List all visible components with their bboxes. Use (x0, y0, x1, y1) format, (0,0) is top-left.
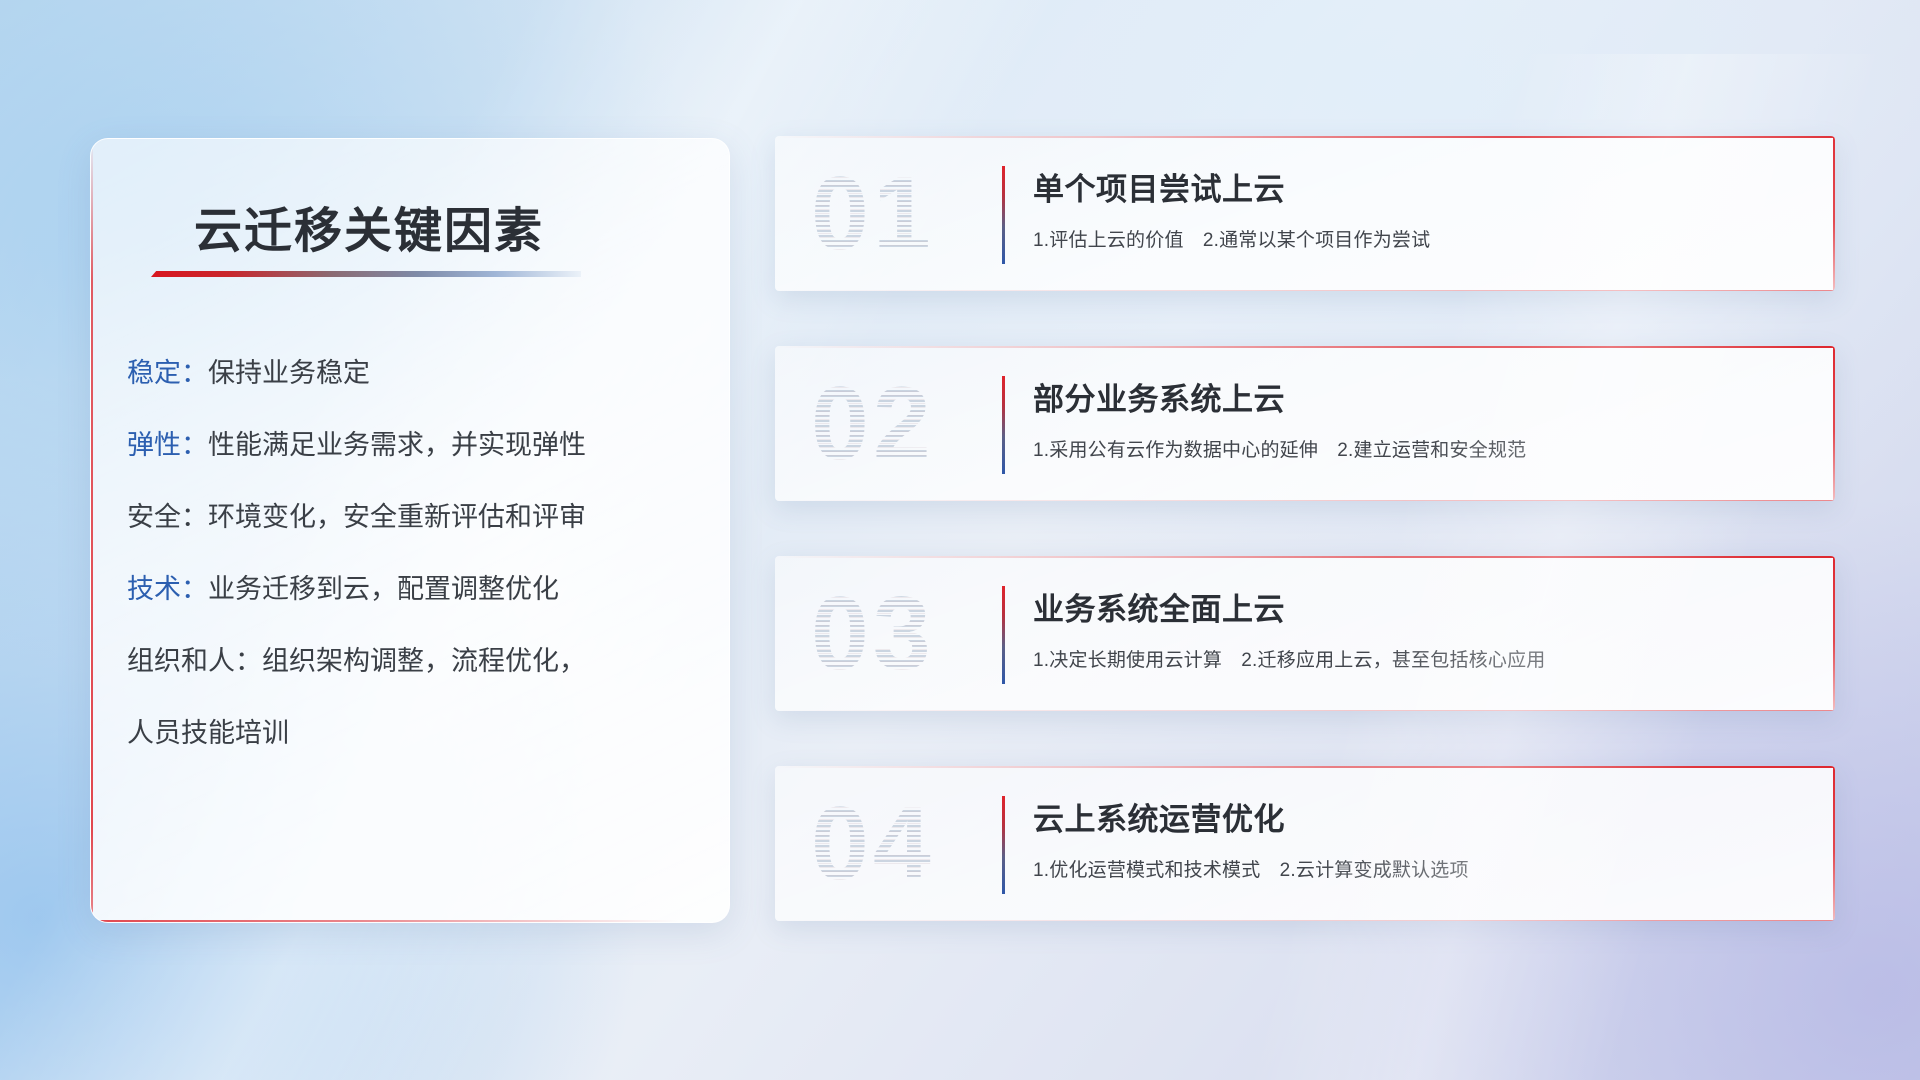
stage-number-ghost: 03 (811, 570, 986, 698)
card-right-accent-line (1833, 136, 1835, 291)
list-item-label: 技术： (127, 574, 208, 604)
stage-card[interactable]: 02 02 部分业务系统上云 1.采用公有云作为数据中心的延伸 2.建立运营和安… (775, 346, 1835, 501)
card-accent-bar (1002, 166, 1005, 264)
card-description: 1.采用公有云作为数据中心的延伸 2.建立运营和安全规范 (1033, 435, 1807, 462)
card-bottom-accent-line (775, 290, 1835, 291)
card-accent-bar (1002, 376, 1005, 474)
list-item-label: 弹性： (127, 430, 208, 460)
list-item: 技术：业务迁移到云，配置调整优化 (127, 553, 705, 625)
card-right-accent-line (1833, 346, 1835, 501)
list-item-text: 环境变化，安全重新评估和评审 (208, 502, 586, 532)
stage-card[interactable]: 01 01 单个项目尝试上云 1.评估上云的价值 2.通常以某个项目作为尝试 (775, 136, 1835, 291)
card-right-accent-line (1833, 766, 1835, 921)
card-title: 部分业务系统上云 (1033, 374, 1807, 419)
card-body: 部分业务系统上云 1.采用公有云作为数据中心的延伸 2.建立运营和安全规范 (1033, 374, 1807, 462)
title-underline-gradient (151, 271, 581, 277)
list-item-text: 组织架构调整，流程优化， (262, 646, 586, 676)
card-description: 1.优化运营模式和技术模式 2.云计算变成默认选项 (1033, 855, 1807, 882)
list-item-text: 业务迁移到云，配置调整优化 (208, 574, 559, 604)
card-right-accent-line (1833, 556, 1835, 711)
list-item: 弹性：性能满足业务需求，并实现弹性 (127, 409, 705, 481)
key-factors-list: 稳定：保持业务稳定 弹性：性能满足业务需求，并实现弹性 安全：环境变化，安全重新… (127, 337, 705, 769)
stage-card[interactable]: 03 03 业务系统全面上云 1.决定长期使用云计算 2.迁移应用上云，甚至包括… (775, 556, 1835, 711)
migration-stage-cards: 01 01 单个项目尝试上云 1.评估上云的价值 2.通常以某个项目作为尝试 0… (775, 136, 1835, 976)
card-bottom-accent-line (775, 500, 1835, 501)
card-title: 单个项目尝试上云 (1033, 164, 1807, 209)
card-description: 1.决定长期使用云计算 2.迁移应用上云，甚至包括核心应用 (1033, 645, 1807, 672)
key-factors-panel: 云迁移关键因素 稳定：保持业务稳定 弹性：性能满足业务需求，并实现弹性 安全：环… (90, 138, 730, 923)
card-title: 业务系统全面上云 (1033, 584, 1807, 629)
list-item-text: 性能满足业务需求，并实现弹性 (208, 430, 586, 460)
card-body: 业务系统全面上云 1.决定长期使用云计算 2.迁移应用上云，甚至包括核心应用 (1033, 584, 1807, 672)
stage-number-ghost: 01 (811, 150, 986, 278)
card-top-accent-line (775, 346, 1835, 348)
list-item-label: 安全： (127, 502, 208, 532)
list-item-label: 组织和人： (127, 646, 262, 676)
card-bottom-accent-line (775, 920, 1835, 921)
card-body: 云上系统运营优化 1.优化运营模式和技术模式 2.云计算变成默认选项 (1033, 794, 1807, 882)
card-top-accent-line (775, 136, 1835, 138)
card-bottom-accent-line (775, 710, 1835, 711)
card-body: 单个项目尝试上云 1.评估上云的价值 2.通常以某个项目作为尝试 (1033, 164, 1807, 252)
panel-bottom-accent-line (91, 920, 729, 922)
list-item: 稳定：保持业务稳定 (127, 337, 705, 409)
card-accent-bar (1002, 586, 1005, 684)
list-item: 组织和人：组织架构调整，流程优化， (127, 625, 705, 697)
stage-number-ghost: 02 (811, 360, 986, 488)
card-accent-bar (1002, 796, 1005, 894)
card-top-accent-line (775, 556, 1835, 558)
list-item: 安全：环境变化，安全重新评估和评审 (127, 481, 705, 553)
card-top-accent-line (775, 766, 1835, 768)
page-title: 云迁移关键因素 (194, 191, 544, 261)
list-item: 人员技能培训 (127, 697, 705, 769)
list-item-label: 稳定： (127, 358, 208, 388)
list-item-text: 保持业务稳定 (208, 358, 370, 388)
slide-canvas: 云迁移关键因素 稳定：保持业务稳定 弹性：性能满足业务需求，并实现弹性 安全：环… (0, 0, 1920, 1080)
card-description: 1.评估上云的价值 2.通常以某个项目作为尝试 (1033, 225, 1807, 252)
list-item-text: 人员技能培训 (127, 718, 289, 748)
panel-left-accent-line (91, 139, 93, 922)
card-title: 云上系统运营优化 (1033, 794, 1807, 839)
stage-card[interactable]: 04 04 云上系统运营优化 1.优化运营模式和技术模式 2.云计算变成默认选项 (775, 766, 1835, 921)
stage-number-ghost: 04 (811, 780, 986, 908)
